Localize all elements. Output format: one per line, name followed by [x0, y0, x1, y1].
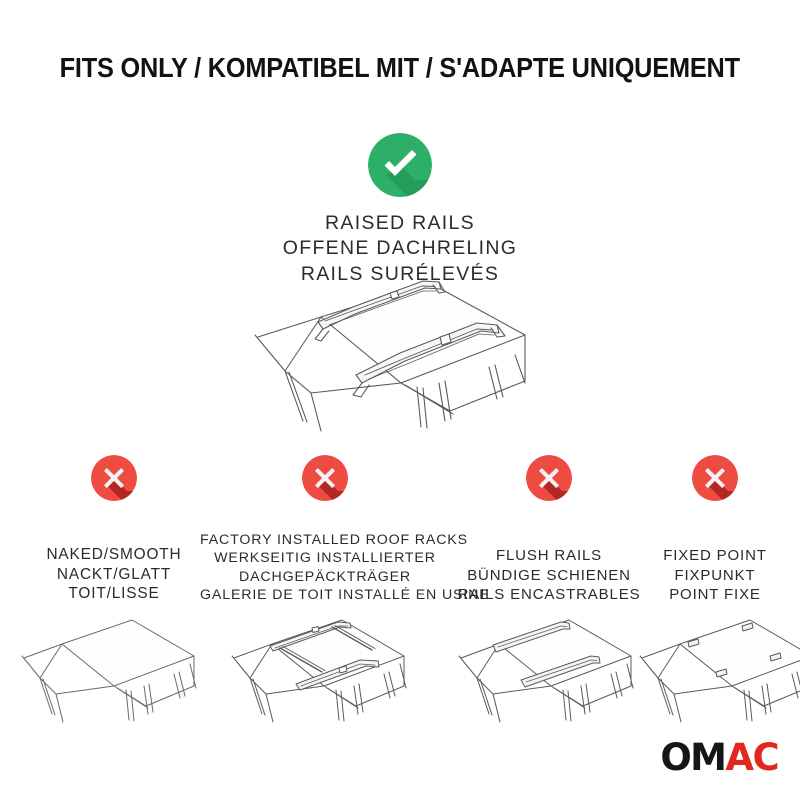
car-roof-factory-rack-illustration	[200, 610, 450, 740]
check-circle-icon	[368, 133, 432, 197]
x-circle-icon	[302, 455, 348, 501]
logo-text-dark: OM	[660, 736, 725, 779]
label-line-1: BÜNDIGE SCHIENEN	[443, 566, 655, 585]
label-line-1: FIXPUNKT	[630, 566, 800, 585]
car-roof-flush-rails-illustration	[443, 610, 655, 740]
logo-text-red: AC	[725, 736, 778, 779]
approved-label-1: OFFENE DACHRELING	[0, 236, 800, 261]
x-circle-icon	[91, 455, 137, 501]
label-line-0: FACTORY INSTALLED ROOF RACKS	[200, 531, 450, 549]
omac-logo: OMAC	[660, 739, 778, 776]
incompatible-labels: FLUSH RAILS BÜNDIGE SCHIENEN RAILS ENCAS…	[443, 546, 655, 604]
label-line-0: FLUSH RAILS	[443, 546, 655, 565]
label-line-2: POINT FIXE	[630, 585, 800, 604]
x-circle-icon	[526, 455, 572, 501]
label-line-0: NAKED/SMOOTH	[0, 545, 228, 565]
label-line-3: GALERIE DE TOIT INSTALLÉ EN USINE	[200, 586, 450, 604]
car-roof-naked-smooth-illustration	[0, 610, 228, 740]
label-line-2: DACHGEPÄCKTRÄGER	[200, 568, 450, 586]
approved-label-0: RAISED RAILS	[0, 211, 800, 236]
incompatible-item-flush-rails: FLUSH RAILS BÜNDIGE SCHIENEN RAILS ENCAS…	[443, 450, 655, 800]
incompatible-item-factory-rack: FACTORY INSTALLED ROOF RACKS WERKSEITIG …	[200, 450, 450, 800]
x-circle-icon	[692, 455, 738, 501]
approved-section: RAISED RAILS OFFENE DACHRELING RAILS SUR…	[0, 133, 800, 287]
incompatible-labels: NAKED/SMOOTH NACKT/GLATT TOIT/LISSE	[0, 545, 228, 604]
incompatible-labels: FACTORY INSTALLED ROOF RACKS WERKSEITIG …	[200, 531, 450, 604]
label-line-2: TOIT/LISSE	[0, 584, 228, 604]
label-line-1: NACKT/GLATT	[0, 565, 228, 585]
label-line-2: RAILS ENCASTRABLES	[443, 585, 655, 604]
incompatible-labels: FIXED POINT FIXPUNKT POINT FIXE	[630, 546, 800, 604]
incompatible-item-naked-smooth: NAKED/SMOOTH NACKT/GLATT TOIT/LISSE	[0, 450, 228, 800]
car-roof-raised-rails-illustration	[225, 275, 575, 440]
car-roof-fixed-point-illustration	[630, 610, 800, 740]
header: FITS ONLY / KOMPATIBEL MIT / S'ADAPTE UN…	[0, 52, 800, 84]
fitment-infographic: FITS ONLY / KOMPATIBEL MIT / S'ADAPTE UN…	[0, 0, 800, 800]
label-line-0: FIXED POINT	[630, 546, 800, 565]
page-title: FITS ONLY / KOMPATIBEL MIT / S'ADAPTE UN…	[60, 52, 740, 84]
label-line-1: WERKSEITIG INSTALLIERTER	[200, 549, 450, 567]
